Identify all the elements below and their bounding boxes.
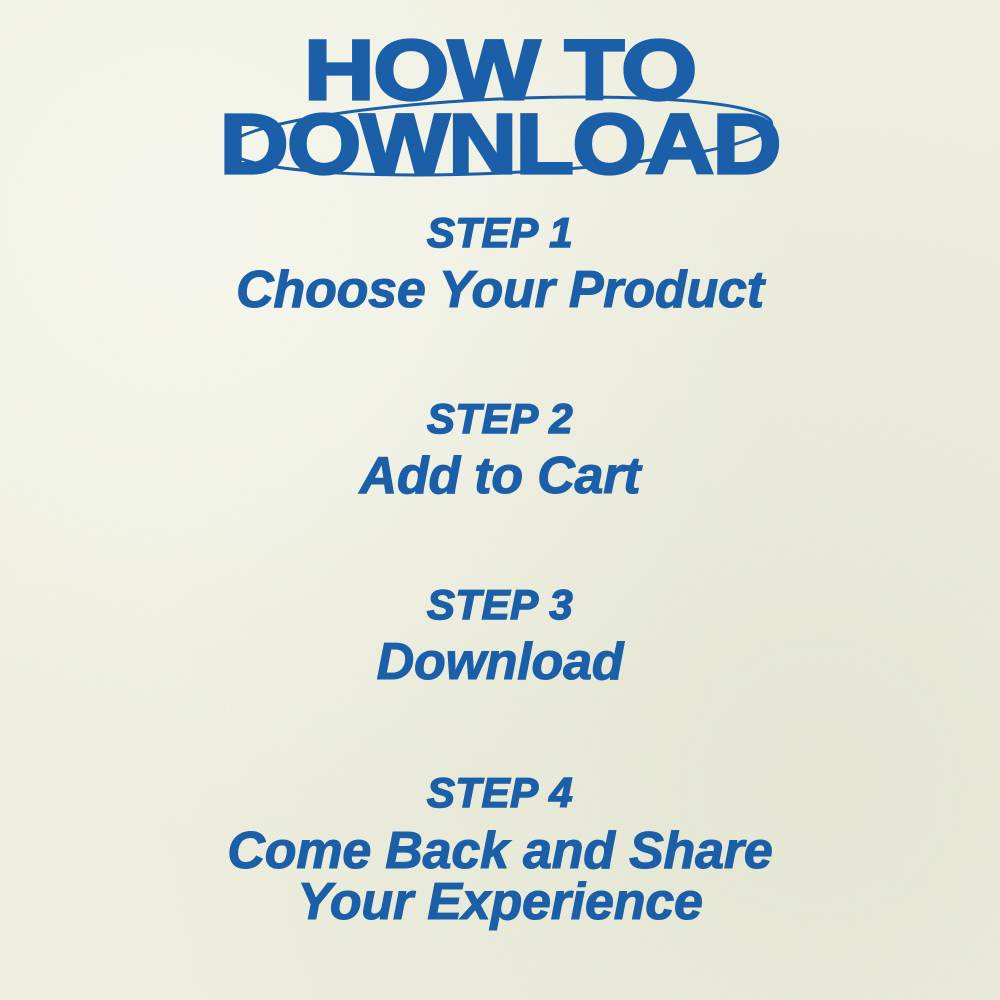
step-3-description-line-1: Download	[0, 636, 1000, 690]
step-2-label: STEP 2	[0, 398, 1000, 440]
step-item-1: STEP 1 Choose Your Product	[0, 212, 1000, 318]
poster-canvas: HOW TO DOWNLOAD STEP 1 Choose Your Produ…	[0, 0, 1000, 1000]
step-4-description-line-1: Come Back and Share	[0, 826, 1000, 877]
step-4-label: STEP 4	[0, 772, 1000, 814]
title-line-download: DOWNLOAD	[0, 108, 1000, 180]
title-line-how-to: HOW TO	[0, 34, 1000, 106]
step-4-description: Come Back and Share Your Experience	[0, 826, 1000, 928]
step-1-description: Choose Your Product	[0, 264, 1000, 318]
poster-title: HOW TO DOWNLOAD	[0, 34, 1000, 180]
step-2-description: Add to Cart	[0, 450, 1000, 504]
step-item-3: STEP 3 Download	[0, 584, 1000, 690]
step-3-label: STEP 3	[0, 584, 1000, 626]
step-item-2: STEP 2 Add to Cart	[0, 398, 1000, 504]
step-3-description: Download	[0, 636, 1000, 690]
step-2-description-line-1: Add to Cart	[0, 450, 1000, 504]
step-1-description-line-1: Choose Your Product	[0, 264, 1000, 318]
step-item-4: STEP 4 Come Back and Share Your Experien…	[0, 772, 1000, 928]
step-1-label: STEP 1	[0, 212, 1000, 254]
step-4-description-line-2: Your Experience	[0, 877, 1000, 928]
